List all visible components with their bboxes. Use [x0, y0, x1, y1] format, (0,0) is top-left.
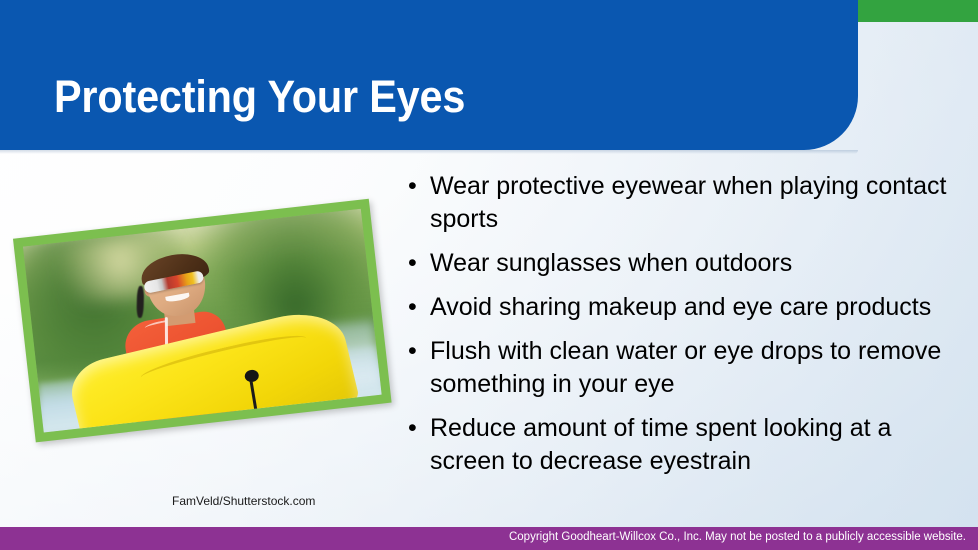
- bullet-dot-icon: •: [408, 291, 430, 324]
- slide: Protecting Your Eyes • Wear protective e…: [0, 0, 978, 550]
- bullet-dot-icon: •: [408, 170, 430, 203]
- bullet-dot-icon: •: [408, 247, 430, 280]
- footer-band: Copyright Goodheart-Willcox Co., Inc. Ma…: [0, 527, 978, 550]
- photo-credit: FamVeld/Shutterstock.com: [172, 494, 315, 508]
- list-item: • Flush with clean water or eye drops to…: [408, 335, 968, 401]
- page-title: Protecting Your Eyes: [54, 72, 465, 122]
- header-shadow: [0, 150, 858, 154]
- list-item-text: Avoid sharing makeup and eye care produc…: [430, 291, 968, 324]
- photo-frame: [13, 199, 392, 443]
- list-item-text: Flush with clean water or eye drops to r…: [430, 335, 968, 401]
- bullet-list: • Wear protective eyewear when playing c…: [408, 170, 968, 489]
- green-accent-bar: [856, 0, 978, 22]
- list-item: • Wear protective eyewear when playing c…: [408, 170, 968, 236]
- photo-image: [23, 209, 382, 433]
- copyright-notice: Copyright Goodheart-Willcox Co., Inc. Ma…: [509, 531, 966, 543]
- list-item-text: Wear sunglasses when outdoors: [430, 247, 968, 280]
- list-item-text: Reduce amount of time spent looking at a…: [430, 412, 968, 478]
- list-item: • Avoid sharing makeup and eye care prod…: [408, 291, 968, 324]
- slide-photo: [5, 178, 401, 458]
- bullet-dot-icon: •: [408, 335, 430, 368]
- list-item: • Reduce amount of time spent looking at…: [408, 412, 968, 478]
- list-item: • Wear sunglasses when outdoors: [408, 247, 968, 280]
- list-item-text: Wear protective eyewear when playing con…: [430, 170, 968, 236]
- bullet-dot-icon: •: [408, 412, 430, 445]
